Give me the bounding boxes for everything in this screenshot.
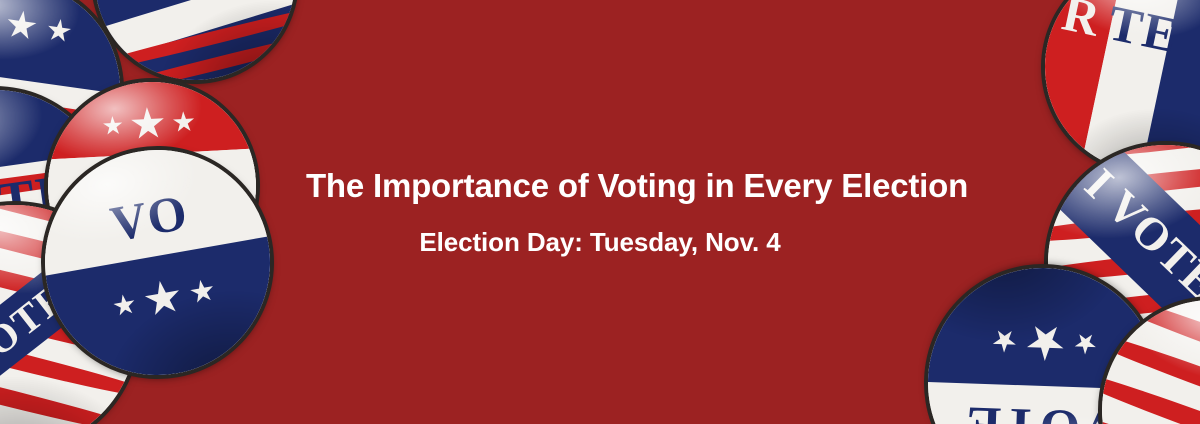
banner-subtitle: Election Day: Tuesday, Nov. 4 [419, 228, 780, 257]
voting-banner: TE [0, 0, 1200, 424]
button-cluster-right: UR TE I VOTED VOTE [1010, 0, 1200, 424]
button-cluster-left: TE [0, 0, 300, 424]
vote-button-stars-lower: VO [27, 132, 288, 393]
banner-headline: The Importance of Voting in Every Electi… [306, 168, 968, 204]
